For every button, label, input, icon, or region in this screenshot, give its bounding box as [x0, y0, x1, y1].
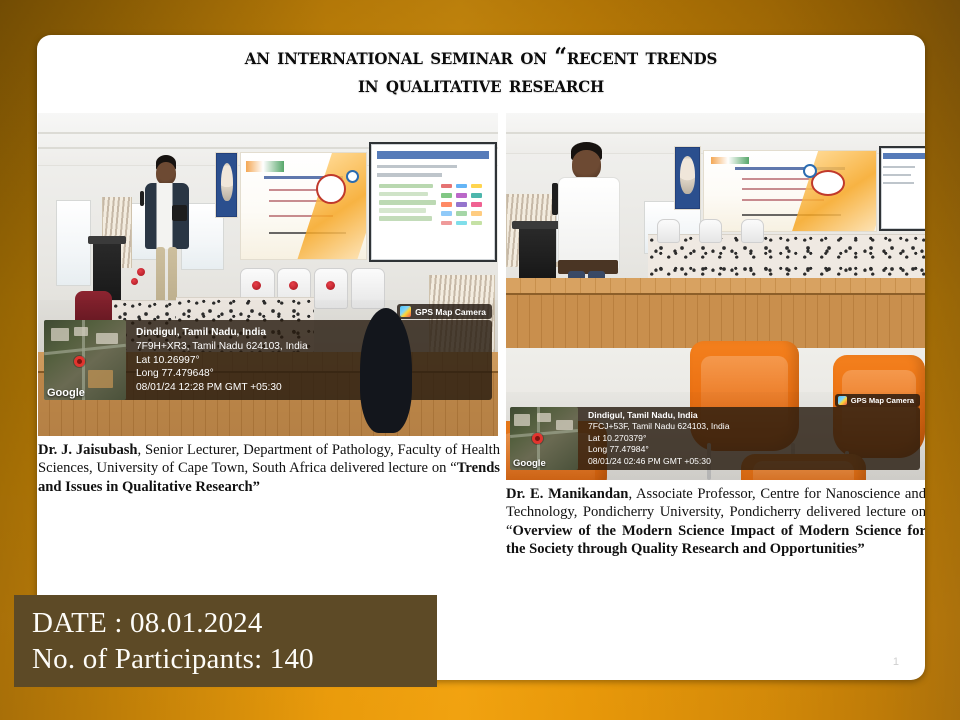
- gps-info-bar: Google Dindigul, Tamil Nadu, India 7FCJ+…: [510, 407, 920, 470]
- podium: [519, 227, 557, 286]
- left-photo-caption: Dr. J. Jaisubash, Senior Lecturer, Depar…: [38, 441, 500, 496]
- gps-camera-icon: [400, 306, 411, 317]
- gps-brand-label: GPS Map Camera: [851, 396, 914, 405]
- left-photo-scene: GPS Map Camera Google: [38, 113, 498, 436]
- gps-place: Dindigul, Tamil Nadu, India: [588, 410, 920, 421]
- slide-content-card: AN INTERNATIONAL SEMINAR ON “RECENT TREN…: [37, 35, 925, 680]
- google-watermark: Google: [513, 458, 546, 469]
- event-date: DATE : 08.01.2024: [32, 605, 437, 641]
- gps-map-camera-badge: GPS Map Camera: [835, 394, 920, 407]
- gps-address: 7F9H+XR3, Tamil Nadu 624103, India: [136, 340, 492, 354]
- right-photo-scene: GPS Map Camera Google: [506, 113, 925, 480]
- gps-latitude: Lat 10.26997°: [136, 354, 492, 368]
- seminar-banner: [240, 152, 366, 261]
- left-seminar-photo: GPS Map Camera Google: [38, 113, 498, 436]
- gps-place: Dindigul, Tamil Nadu, India: [136, 326, 492, 340]
- gps-info-bar: Google Dindigul, Tamil Nadu, India 7F9H+…: [44, 320, 492, 400]
- hall-window: [56, 200, 90, 286]
- right-photo-caption: Dr. E. Manikandan, Associate Professor, …: [506, 485, 925, 559]
- portrait-board: [215, 152, 238, 219]
- slide-frame: AN INTERNATIONAL SEMINAR ON “RECENT TREN…: [0, 0, 960, 720]
- slide-number: 1: [893, 656, 899, 668]
- left-caption-quote-close: ”: [253, 479, 260, 495]
- gps-longitude: Long 77.47984°: [588, 444, 920, 455]
- gps-overlay: GPS Map Camera Google: [38, 300, 498, 436]
- right-caption-quote-close: ”: [857, 541, 864, 557]
- gps-camera-icon: [838, 396, 847, 405]
- gps-map-camera-badge: GPS Map Camera: [397, 304, 492, 319]
- gps-overlay: GPS Map Camera Google: [506, 392, 925, 480]
- date-participants-box: DATE : 08.01.2024 No. of Participants: 1…: [14, 595, 437, 687]
- projection-screen: [369, 142, 497, 262]
- gps-timestamp: 08/01/24 02:46 PM GMT +05:30: [588, 456, 920, 467]
- flower-decor: [131, 278, 138, 285]
- gps-map-thumbnail: Google: [44, 320, 126, 400]
- left-caption-speaker-name: Dr. J. Jaisubash: [38, 442, 138, 458]
- audience-silhouette: [360, 308, 412, 433]
- gps-longitude: Long 77.479648°: [136, 367, 492, 381]
- google-watermark: Google: [47, 387, 85, 399]
- page-title: AN INTERNATIONAL SEMINAR ON “RECENT TREN…: [64, 42, 899, 98]
- projection-screen: [879, 146, 925, 231]
- portrait-board: [674, 146, 701, 210]
- gps-latitude: Lat 10.270379°: [588, 433, 920, 444]
- participant-count: No. of Participants: 140: [32, 641, 437, 677]
- gps-address: 7FCJ+53F, Tamil Nadu 624103, India: [588, 421, 920, 432]
- gps-map-thumbnail: Google: [510, 407, 578, 470]
- stage-table: [648, 234, 925, 283]
- gps-timestamp: 08/01/24 12:28 PM GMT +05:30: [136, 381, 492, 395]
- gps-brand-label: GPS Map Camera: [415, 307, 486, 317]
- seminar-banner: [703, 150, 877, 233]
- right-seminar-photo: GPS Map Camera Google: [506, 113, 925, 480]
- right-caption-speaker-name: Dr. E. Manikandan: [506, 486, 628, 502]
